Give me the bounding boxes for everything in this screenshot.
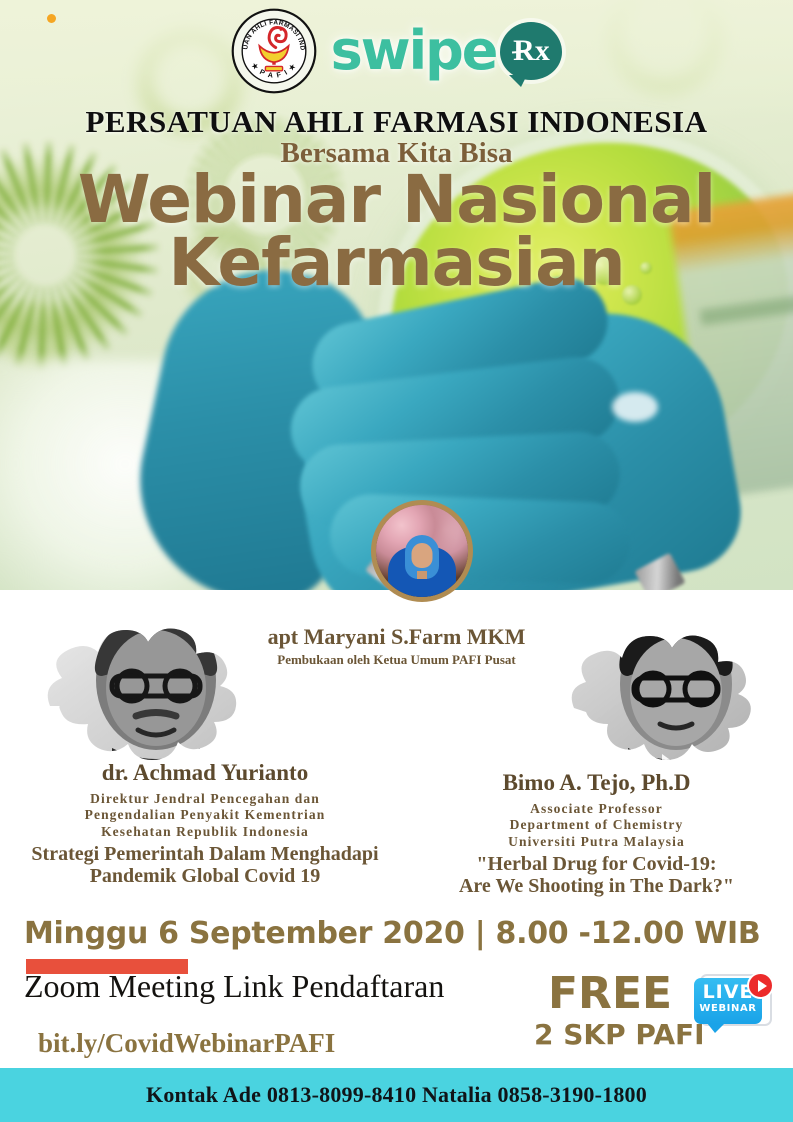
speaker-name: Bimo A. Tejo, Ph.D — [400, 770, 793, 796]
speaker-name: dr. Achmad Yurianto — [0, 760, 410, 786]
speaker-topic-line: "Herbal Drug for Covid-19: — [400, 853, 793, 875]
contact-bar: Kontak Ade 0813-8099-8410 Natalia 0858-3… — [0, 1068, 793, 1122]
registration-link[interactable]: bit.ly/CovidWebinarPAFI — [38, 1028, 335, 1059]
organization-name: PERSATUAN AHLI FARMASI INDONESIA — [0, 104, 793, 140]
play-triangle — [758, 980, 767, 992]
play-button-icon — [747, 972, 774, 999]
host-name: apt Maryani S.Farm MKM — [0, 624, 793, 650]
registration-label: Zoom Meeting Link Pendaftaran — [24, 968, 444, 1005]
speaker-title-line: Department of Chemistry — [400, 817, 793, 833]
speaker-title-line: Associate Professor — [400, 801, 793, 817]
live-webinar-badge: LIVE WEBINAR — [694, 972, 774, 1034]
webinar-label: WEBINAR — [694, 1004, 762, 1014]
speaker-title: Associate Professor Department of Chemis… — [400, 801, 793, 850]
swiperx-logo: swipe Rx — [331, 22, 563, 80]
speaker-title: Direktur Jendral Pencegahan dan Pengenda… — [0, 791, 410, 840]
speaker-title-line: Universiti Putra Malaysia — [400, 834, 793, 850]
skp-credits-label: 2 SKP PAFI — [534, 1018, 705, 1051]
rx-label: Rx — [513, 36, 550, 66]
event-datetime: Minggu 6 September 2020 | 8.00 -12.00 WI… — [24, 916, 760, 951]
host-role: Pembukaan oleh Ketua Umum PAFI Pusat — [0, 652, 793, 668]
speaker-block-right: Bimo A. Tejo, Ph.D Associate Professor D… — [400, 770, 793, 897]
speaker-topic-line: Pandemik Global Covid 19 — [0, 865, 410, 887]
speaker-topic-line: Are We Shooting in The Dark?" — [400, 875, 793, 897]
rx-speech-bubble-icon: Rx — [500, 22, 562, 80]
webinar-poster: PERSATUAN AHLI FARMASI INDONESIA ★ P A F… — [0, 0, 793, 1122]
speaker-title-line: Kesehatan Republik Indonesia — [0, 824, 410, 840]
speaker-block-left: dr. Achmad Yurianto Direktur Jendral Pen… — [0, 760, 410, 887]
speaker-topic-line: Strategi Pemerintah Dalam Menghadapi — [0, 843, 410, 865]
swipe-dot-icon — [47, 14, 56, 23]
page-title: Webinar Nasional Kefarmasian — [0, 168, 793, 295]
speaker-topic: Strategi Pemerintah Dalam Menghadapi Pan… — [0, 843, 410, 887]
free-badge: FREE — [548, 968, 672, 1019]
speaker-topic: "Herbal Drug for Covid-19: Are We Shooti… — [400, 853, 793, 897]
host-neck — [417, 571, 427, 579]
swipe-wordmark: swipe — [331, 24, 497, 78]
host-avatar — [371, 500, 473, 602]
header-logos: PERSATUAN AHLI FARMASI INDONESIA ★ P A F… — [0, 8, 793, 94]
speaker-photo-bimo-tejo — [556, 596, 791, 774]
title-line-2: Kefarmasian — [0, 231, 793, 294]
speaker-title-line: Direktur Jendral Pencegahan dan — [0, 791, 410, 807]
pafi-logo: PERSATUAN AHLI FARMASI INDONESIA ★ P A F… — [231, 8, 317, 94]
glove-highlight — [612, 392, 658, 422]
speaker-title-line: Pengendalian Penyakit Kementrian — [0, 807, 410, 823]
speaker-photo-achmad-yurianto — [28, 588, 278, 773]
contact-text: Kontak Ade 0813-8099-8410 Natalia 0858-3… — [146, 1082, 647, 1108]
host-face — [412, 543, 433, 568]
